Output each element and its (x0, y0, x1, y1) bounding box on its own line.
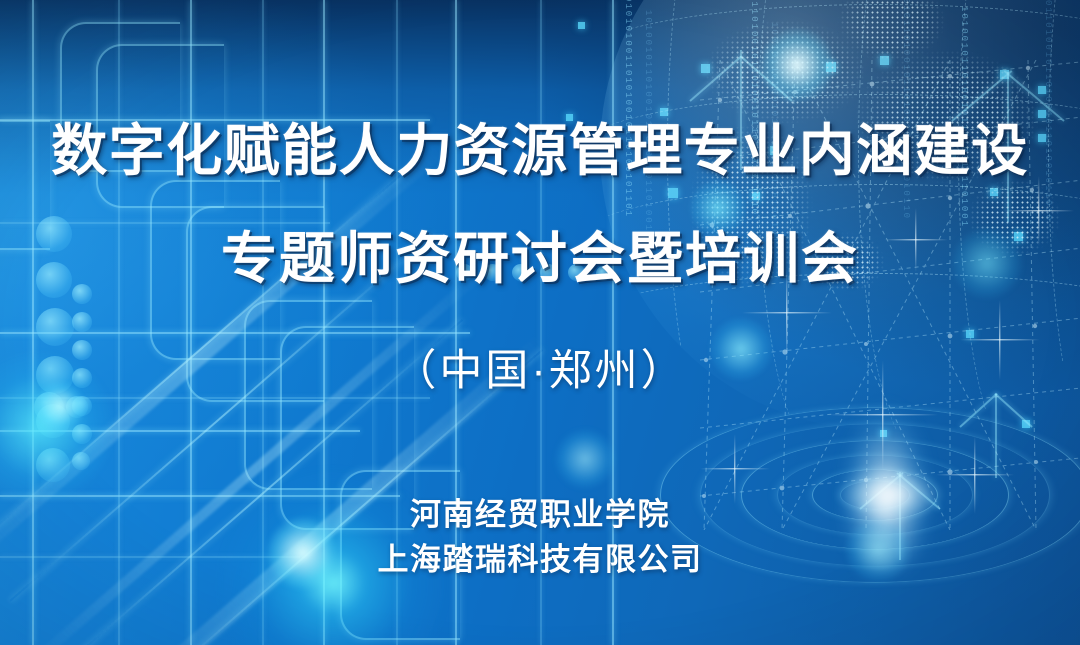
main-title-line-2: 专题师资研讨会暨培训会 (0, 228, 1080, 290)
banner-text-content: 数字化赋能人力资源管理专业内涵建设 专题师资研讨会暨培训会 （中国·郑州） 河南… (0, 0, 1080, 645)
event-location: （中国·郑州） (0, 345, 1080, 397)
conference-banner: 010101001101010010110100101101 101001011… (0, 0, 1080, 645)
organizer-name-1: 河南经贸职业学院 (0, 492, 1080, 537)
main-title-line-1: 数字化赋能人力资源管理专业内涵建设 (0, 120, 1080, 182)
organizer-list: 河南经贸职业学院 上海踏瑞科技有限公司 (0, 492, 1080, 582)
organizer-name-2: 上海踏瑞科技有限公司 (0, 537, 1080, 582)
